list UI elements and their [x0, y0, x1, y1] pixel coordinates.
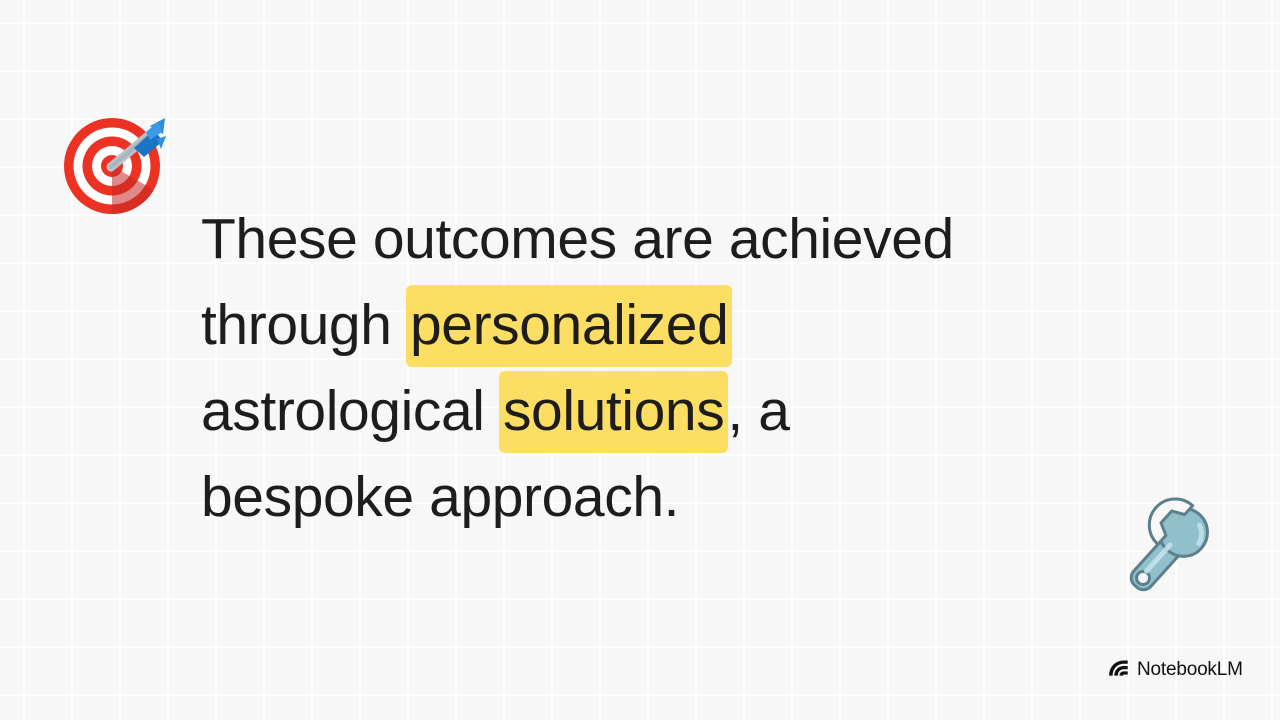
- text-segment: bespoke approach.: [201, 465, 679, 529]
- notebooklm-spiral-logo-icon: [1107, 658, 1130, 681]
- highlight-solutions: solutions: [499, 371, 728, 453]
- headline-line-1: These outcomes are achieved: [201, 196, 1101, 282]
- text-segment: These outcomes are achieved: [201, 207, 954, 271]
- highlight-personalized: personalized: [406, 285, 732, 367]
- headline-text-block: These outcomes are achieved through pers…: [201, 196, 1101, 540]
- text-segment: , a: [727, 379, 789, 443]
- text-segment: through: [201, 293, 407, 357]
- headline-line-3: astrological solutions, a: [201, 368, 1101, 454]
- text-segment: astrological: [201, 379, 500, 443]
- headline-line-4: bespoke approach.: [201, 454, 1101, 540]
- wrench-emoji: [1102, 486, 1234, 610]
- headline-line-2: through personalized: [201, 282, 1101, 368]
- notebooklm-wordmark: NotebookLM: [1137, 660, 1243, 679]
- slide-canvas: These outcomes are achieved through pers…: [0, 0, 1280, 720]
- target-dart-emoji: [62, 112, 166, 216]
- notebooklm-watermark: NotebookLM: [1107, 658, 1243, 681]
